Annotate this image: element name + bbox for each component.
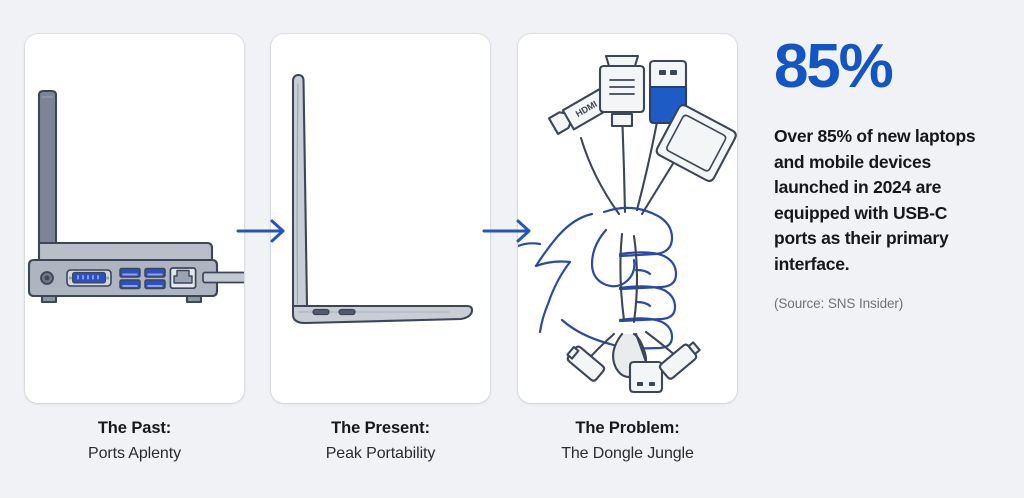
hdmi-plug (600, 56, 644, 126)
usb-a-port (120, 269, 140, 278)
ethernet-port (170, 268, 195, 288)
vga-port (67, 270, 111, 286)
usb-c-port (339, 310, 355, 315)
card-present (271, 34, 490, 403)
usb-c-port (313, 310, 329, 315)
caption-past-subtitle: Ports Aplenty (25, 443, 244, 464)
usb-a-port (145, 269, 165, 278)
thin-laptop-illustration (271, 34, 490, 403)
old-laptop-illustration (25, 34, 244, 403)
caption-problem: The Problem: The Dongle Jungle (518, 418, 737, 464)
stat-headline: 85% (774, 36, 1014, 98)
usb-plug (630, 362, 662, 392)
stat-body-text: Over 85% of new laptops and mobile devic… (774, 124, 979, 277)
card-problem: .ln { fill:none; stroke:#2a4aa8; stroke-… (518, 34, 737, 403)
usb-a-port (120, 280, 140, 289)
usb-a-port (145, 280, 165, 289)
arrow-present-to-problem (480, 214, 540, 248)
caption-present-subtitle: Peak Portability (271, 443, 490, 464)
hand-illustration (536, 208, 676, 349)
card-past (25, 34, 244, 403)
caption-present: The Present: Peak Portability (271, 418, 490, 464)
card-slot (203, 273, 244, 283)
stat-panel: 85% Over 85% of new laptops and mobile d… (774, 36, 1014, 311)
arrow-past-to-present (234, 214, 294, 248)
caption-present-title: The Present: (271, 418, 490, 440)
dongle-jungle-illustration: .ln { fill:none; stroke:#2a4aa8; stroke-… (518, 34, 737, 403)
stat-source-text: (Source: SNS Insider) (774, 296, 1014, 311)
caption-past-title: The Past: (25, 418, 244, 440)
infographic-root: .ln { fill:none; stroke:#2a4aa8; stroke-… (0, 0, 1024, 498)
caption-problem-subtitle: The Dongle Jungle (518, 443, 737, 464)
usb-c-plug (658, 339, 702, 380)
caption-problem-title: The Problem: (518, 418, 737, 440)
usb-c-plug (565, 344, 606, 382)
caption-past: The Past: Ports Aplenty (25, 418, 244, 464)
